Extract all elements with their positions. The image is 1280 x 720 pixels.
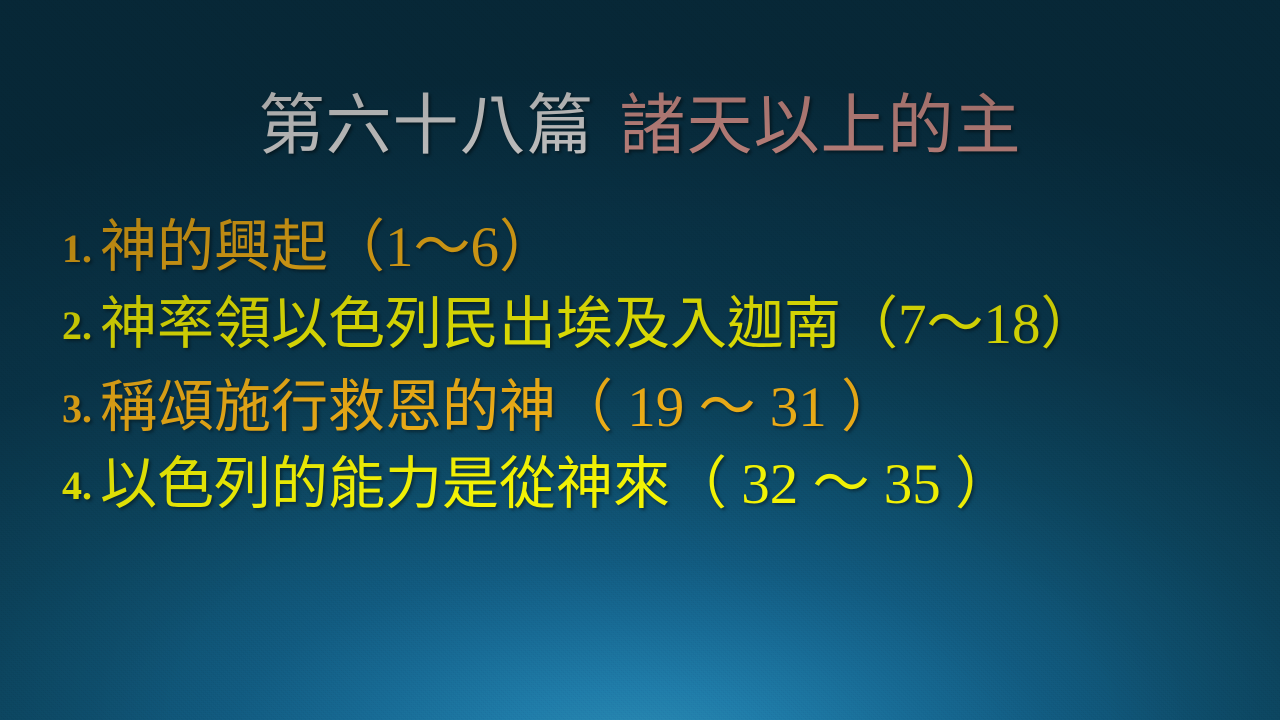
- outline-item-4: 4. 以色列的能力是從神來（ 32 ～ 35 ）: [62, 449, 1252, 522]
- presentation-slide: 第六十八篇諸天以上的主 1. 神的興起（1～6） 2. 神率領以色列民出埃及入迦…: [0, 0, 1280, 720]
- slide-title: 第六十八篇諸天以上的主: [0, 92, 1280, 161]
- outline-item-2-marker: 2.: [62, 289, 92, 355]
- outline-item-3: 3. 稱頌施行救恩的神（ 19 ～ 31 ）: [62, 372, 1252, 445]
- outline-item-3-marker: 3.: [62, 372, 92, 438]
- outline-item-2: 2. 神率領以色列民出埃及入迦南（7～18）: [62, 289, 1252, 362]
- outline-item-2-text: 神率領以色列民出埃及入迦南（7～18）: [100, 289, 1252, 362]
- title-psalm-subject: 諸天以上的主: [620, 90, 1022, 163]
- outline-item-3-text: 稱頌施行救恩的神（ 19 ～ 31 ）: [100, 372, 1252, 445]
- outline-item-1-marker: 1.: [62, 212, 92, 278]
- title-psalm-number: 第六十八篇: [259, 90, 594, 163]
- outline-item-1-text: 神的興起（1～6）: [100, 212, 1252, 285]
- outline-item-4-text: 以色列的能力是從神來（ 32 ～ 35 ）: [100, 449, 1252, 522]
- outline-item-4-marker: 4.: [62, 449, 92, 515]
- outline-item-1: 1. 神的興起（1～6）: [62, 212, 1252, 285]
- outline-list: 1. 神的興起（1～6） 2. 神率領以色列民出埃及入迦南（7～18） 3. 稱…: [62, 212, 1252, 522]
